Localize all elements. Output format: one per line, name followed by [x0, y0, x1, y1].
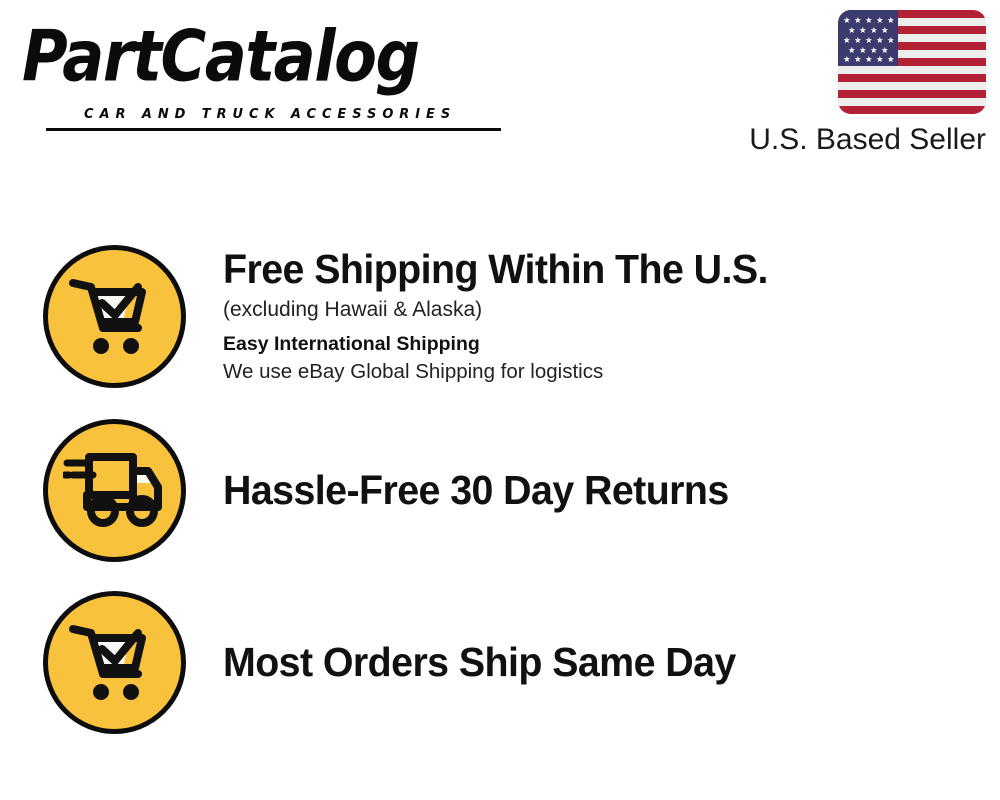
feature-note: (excluding Hawaii & Alaska) — [223, 295, 1000, 325]
shopping-cart-check-icon — [43, 591, 186, 734]
delivery-truck-icon — [43, 419, 186, 562]
us-flag-icon: ★ ★ ★ ★ ★ ★ ★ ★ ★ ★ ★ ★ ★ ★ ★ ★ ★ ★ ★ ★ … — [838, 10, 986, 114]
feature-sub-note: We use eBay Global Shipping for logistic… — [223, 358, 1000, 386]
shopping-cart-check-icon — [43, 245, 186, 388]
feature-row: Most Orders Ship Same Day — [0, 576, 1000, 748]
feature-title: Hassle-Free 30 Day Returns — [223, 467, 969, 514]
feature-title: Free Shipping Within The U.S. — [223, 246, 969, 293]
feature-text: Hassle-Free 30 Day Returns — [223, 467, 1000, 514]
feature-row: Hassle-Free 30 Day Returns — [0, 404, 1000, 576]
brand-tagline: CAR AND TRUCK ACCESSORIES — [84, 106, 456, 122]
feature-sub-title: Easy International Shipping — [223, 331, 1000, 358]
feature-text: Free Shipping Within The U.S. (excluding… — [223, 246, 1000, 386]
brand-logo: PartCatalog CAR AND TRUCK ACCESSORIES — [22, 18, 492, 118]
brand-underline-rule — [46, 128, 501, 131]
us-based-seller-badge: ★ ★ ★ ★ ★ ★ ★ ★ ★ ★ ★ ★ ★ ★ ★ ★ ★ ★ ★ ★ … — [716, 10, 986, 157]
feature-title: Most Orders Ship Same Day — [223, 639, 969, 686]
us-based-seller-label: U.S. Based Seller — [716, 123, 986, 157]
brand-wordmark: PartCatalog — [22, 18, 487, 96]
feature-text: Most Orders Ship Same Day — [223, 639, 1000, 686]
feature-row: Free Shipping Within The U.S. (excluding… — [0, 226, 1000, 406]
